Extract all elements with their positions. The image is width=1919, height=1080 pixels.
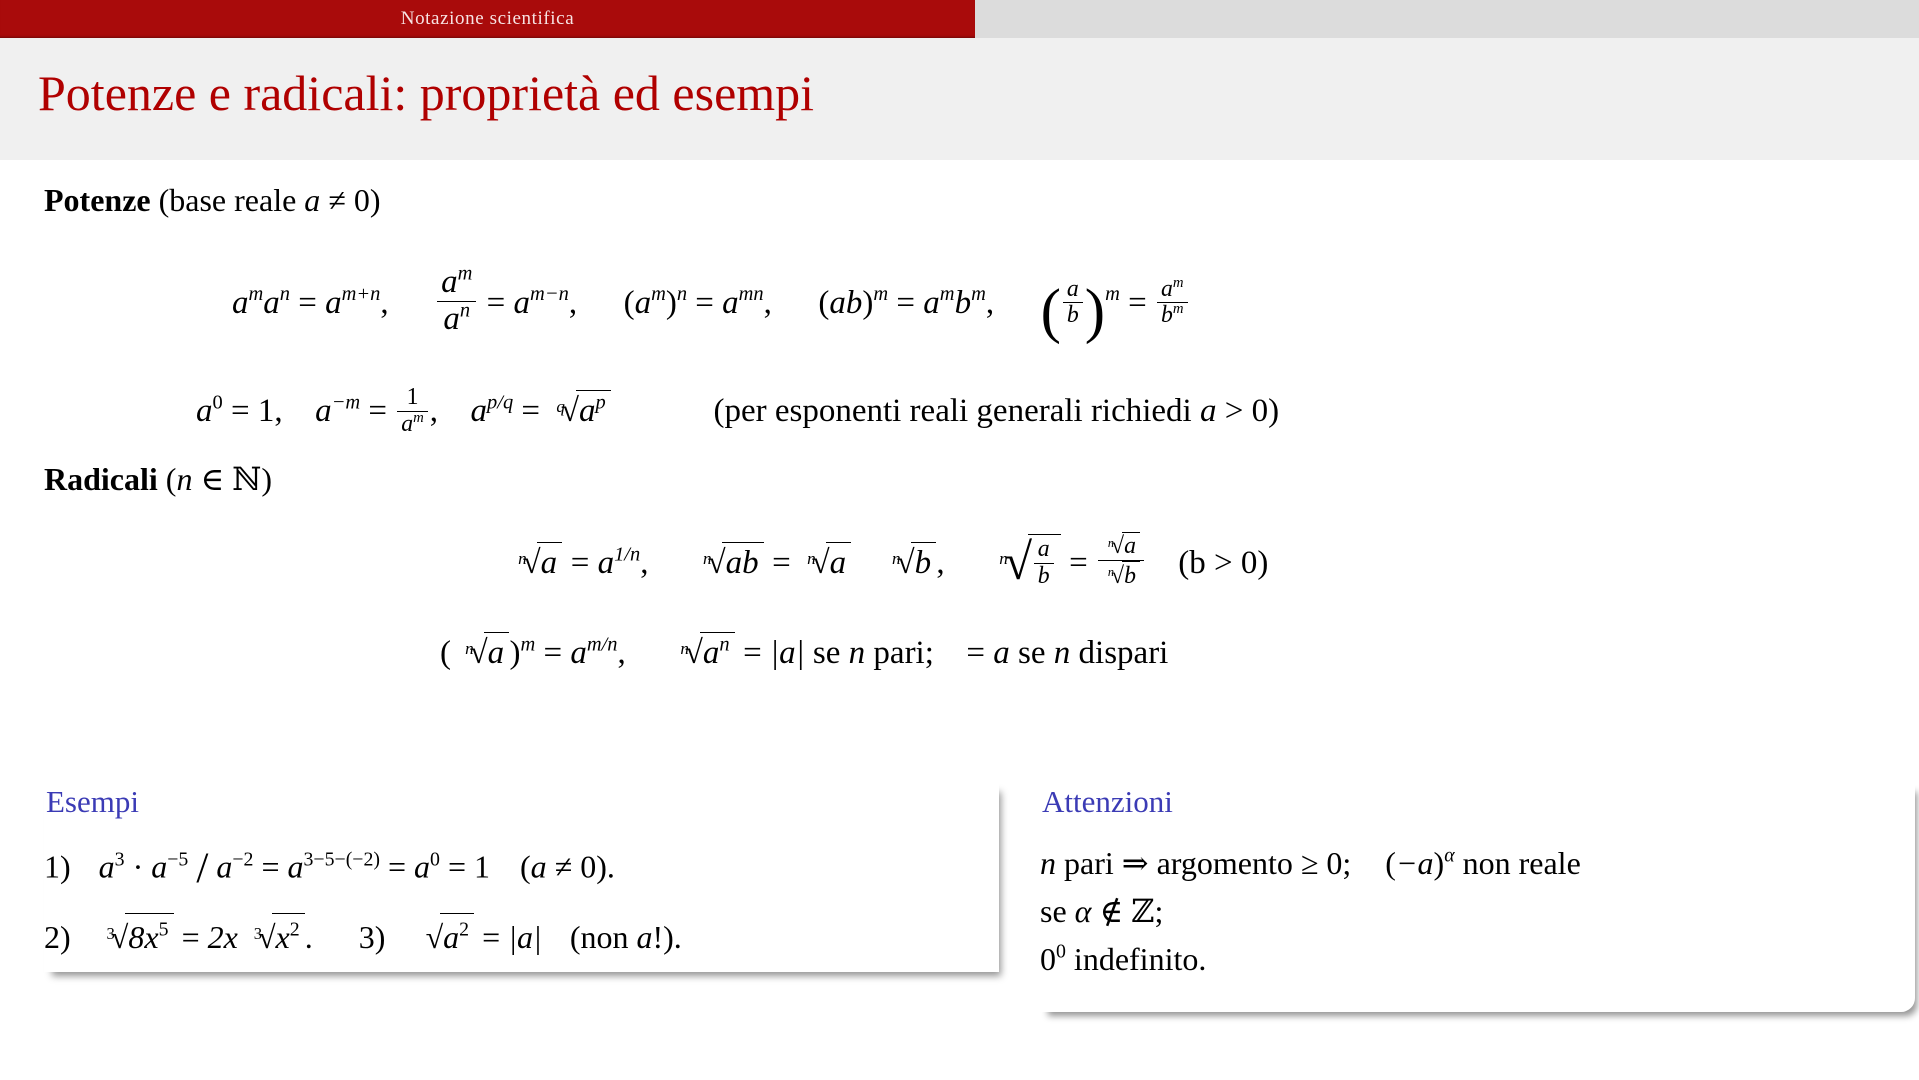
block-esempi: Esempi 1) a3 · a−5 / a−2 = a3−5−(−2) = a… <box>44 782 999 972</box>
attenzioni-line-2: se α ∉ ℤ; <box>1040 890 1915 932</box>
radicali-heading: Radicali (n ∈ ℕ) <box>44 460 272 498</box>
potenze-heading: Potenze (base reale a ≠ 0) <box>44 182 381 219</box>
left-paren-big: ( <box>1041 277 1061 347</box>
cube-root-x2: 3√x2 <box>246 913 305 958</box>
nth-root-a-factor: n√a <box>799 542 851 582</box>
nth-root-a-p: q√ap <box>548 390 611 430</box>
cube-root-8x5: 3√8x5 <box>99 913 174 958</box>
section-navigation-active[interactable]: Notazione scientifica <box>0 0 975 38</box>
radical-condition: (b > 0) <box>1178 545 1268 581</box>
radicali-heading-bold: Radicali <box>44 461 158 497</box>
nth-root-b-factor: n√b <box>884 542 936 582</box>
block-attenzioni-title: Attenzioni <box>1040 782 1915 826</box>
nth-root-a-power: n√a <box>457 632 509 672</box>
nth-root-ab: n√ab <box>695 542 764 582</box>
block-esempi-body: 1) a3 · a−5 / a−2 = a3−5−(−2) = a0 = 1 (… <box>44 840 999 958</box>
nth-root-a-top: n√a <box>1102 532 1140 560</box>
equation-row-radicals-1: n√a = a1/n, n√ab = n√a n√b, n√ab = n√a n… <box>510 532 1268 592</box>
potenze-heading-note: (base reale a ≠ 0) <box>159 182 381 218</box>
fraction-roots: n√a n√b <box>1098 532 1144 589</box>
nth-root-a-n: n√an <box>672 632 735 672</box>
fraction-am-over-bm: am bm <box>1157 277 1188 329</box>
right-paren-big: ) <box>1085 277 1105 347</box>
esempio-item-2: 2) 3√8x5 = 2x 3√x2. 3) 2√a2 = |a| (non a… <box>44 913 999 958</box>
esempio-item-1: 1) a3 · a−5 / a−2 = a3−5−(−2) = a0 = 1 (… <box>44 840 999 897</box>
block-attenzioni-body: n pari ⇒ argomento ≥ 0; (−a)α non reale … <box>1040 842 1915 981</box>
square-root-a2: 2√a2 <box>413 913 474 958</box>
block-esempi-title: Esempi <box>44 782 999 826</box>
fraction-a-over-b-inner: ab <box>1034 537 1054 589</box>
equation-row-powers-2: a0 = 1, a−m = 1 am , ap/q = q√ap (per es… <box>196 385 1279 437</box>
attenzioni-line-3: 00 indefinito. <box>1040 938 1915 980</box>
radicali-heading-note: (n ∈ ℕ) <box>166 461 272 497</box>
equation-row-powers-1: aman = am+n, am an = am−n, (am)n = amn, … <box>232 265 1190 347</box>
section-navigation-inactive[interactable] <box>975 0 1919 38</box>
attenzioni-line-1: n pari ⇒ argomento ≥ 0; (−a)α non reale <box>1040 842 1915 884</box>
page-title: Potenze e radicali: proprietà ed esempi <box>38 64 814 122</box>
fraction-a-over-b: ab <box>1063 277 1083 329</box>
equation-row-radicals-2: (n√a)m = am/n, n√an = |a| se n pari; = a… <box>440 632 1168 672</box>
block-attenzioni: Attenzioni n pari ⇒ argomento ≥ 0; (−a)α… <box>1040 782 1915 1012</box>
section-name-label: Notazione scientifica <box>401 8 575 30</box>
nth-root-a: n√a <box>510 542 562 582</box>
powers-note: (per esponenti reali generali richiedi a… <box>713 393 1279 429</box>
fraction-am-over-an: am an <box>437 265 476 337</box>
fraction-one-over-am: 1 am <box>397 385 428 437</box>
potenze-heading-bold: Potenze <box>44 182 151 218</box>
nth-root-a-over-b: n√ab <box>991 533 1061 592</box>
frame-title-band: Potenze e radicali: proprietà ed esempi <box>0 38 1919 160</box>
headline-bar: Notazione scientifica <box>0 0 1919 38</box>
nth-root-b-bottom: n√b <box>1102 561 1140 589</box>
slide-body: Potenze (base reale a ≠ 0) aman = am+n, … <box>0 160 1919 1080</box>
